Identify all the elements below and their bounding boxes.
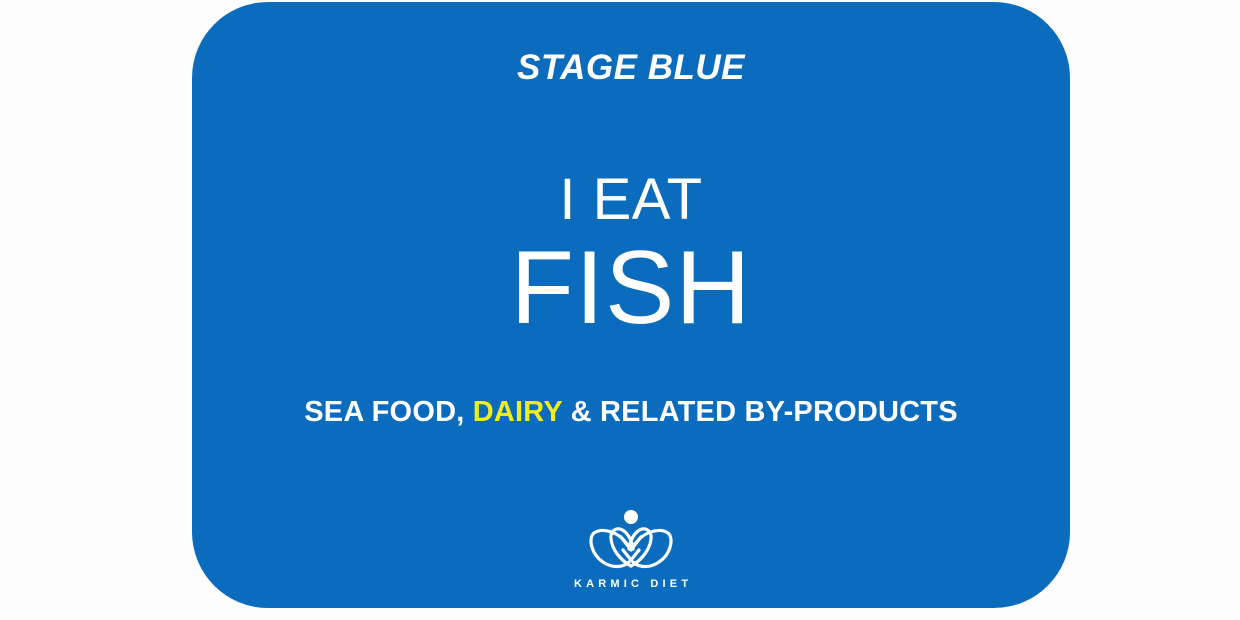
stage-card: STAGE BLUE I EAT FISH SEA FOOD, DAIRY & … [192, 2, 1070, 608]
subtitle-highlight-dairy: DAIRY [473, 396, 563, 428]
slide-canvas: STAGE BLUE I EAT FISH SEA FOOD, DAIRY & … [0, 0, 1240, 620]
headline-line-1: I EAT [192, 170, 1070, 231]
subtitle-prefix: SEA FOOD, [304, 396, 473, 428]
subtitle-suffix: & RELATED BY-PRODUCTS [562, 396, 957, 428]
headline-line-2: FISH [192, 235, 1070, 341]
brand-name: KARMIC DIET [570, 579, 693, 590]
lotus-flower-icon [587, 508, 675, 572]
brand-lockup: KARMIC DIET [192, 508, 1070, 590]
subtitle: SEA FOOD, DAIRY & RELATED BY-PRODUCTS [192, 397, 1070, 429]
stage-label: STAGE BLUE [192, 50, 1070, 85]
headline-block: I EAT FISH [192, 170, 1070, 341]
